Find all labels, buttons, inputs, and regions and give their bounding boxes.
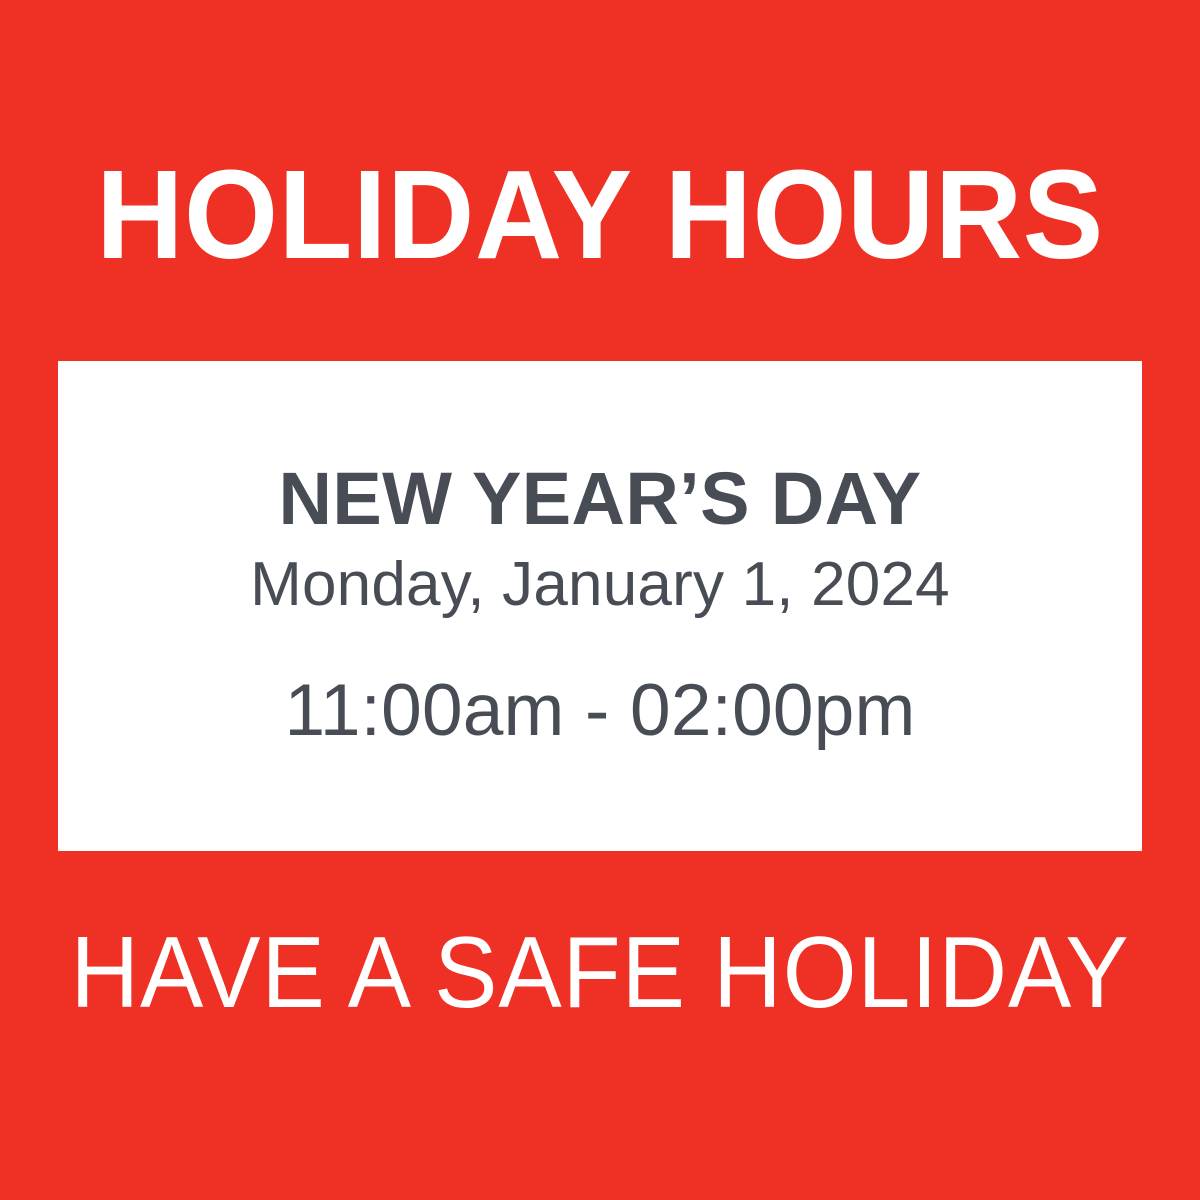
page-title: HOLIDAY HOURS <box>24 150 1176 280</box>
holiday-hours-poster: HOLIDAY HOURS NEW YEAR’S DAY Monday, Jan… <box>0 0 1200 1200</box>
holiday-name: NEW YEAR’S DAY <box>98 461 1102 538</box>
holiday-detail-content: NEW YEAR’S DAY Monday, January 1, 2024 1… <box>58 461 1142 751</box>
footer-message: HAVE A SAFE HOLIDAY <box>36 918 1164 1028</box>
holiday-detail-card: NEW YEAR’S DAY Monday, January 1, 2024 1… <box>58 361 1142 851</box>
holiday-date: Monday, January 1, 2024 <box>98 548 1102 622</box>
holiday-hours-range: 11:00am - 02:00pm <box>98 671 1102 751</box>
